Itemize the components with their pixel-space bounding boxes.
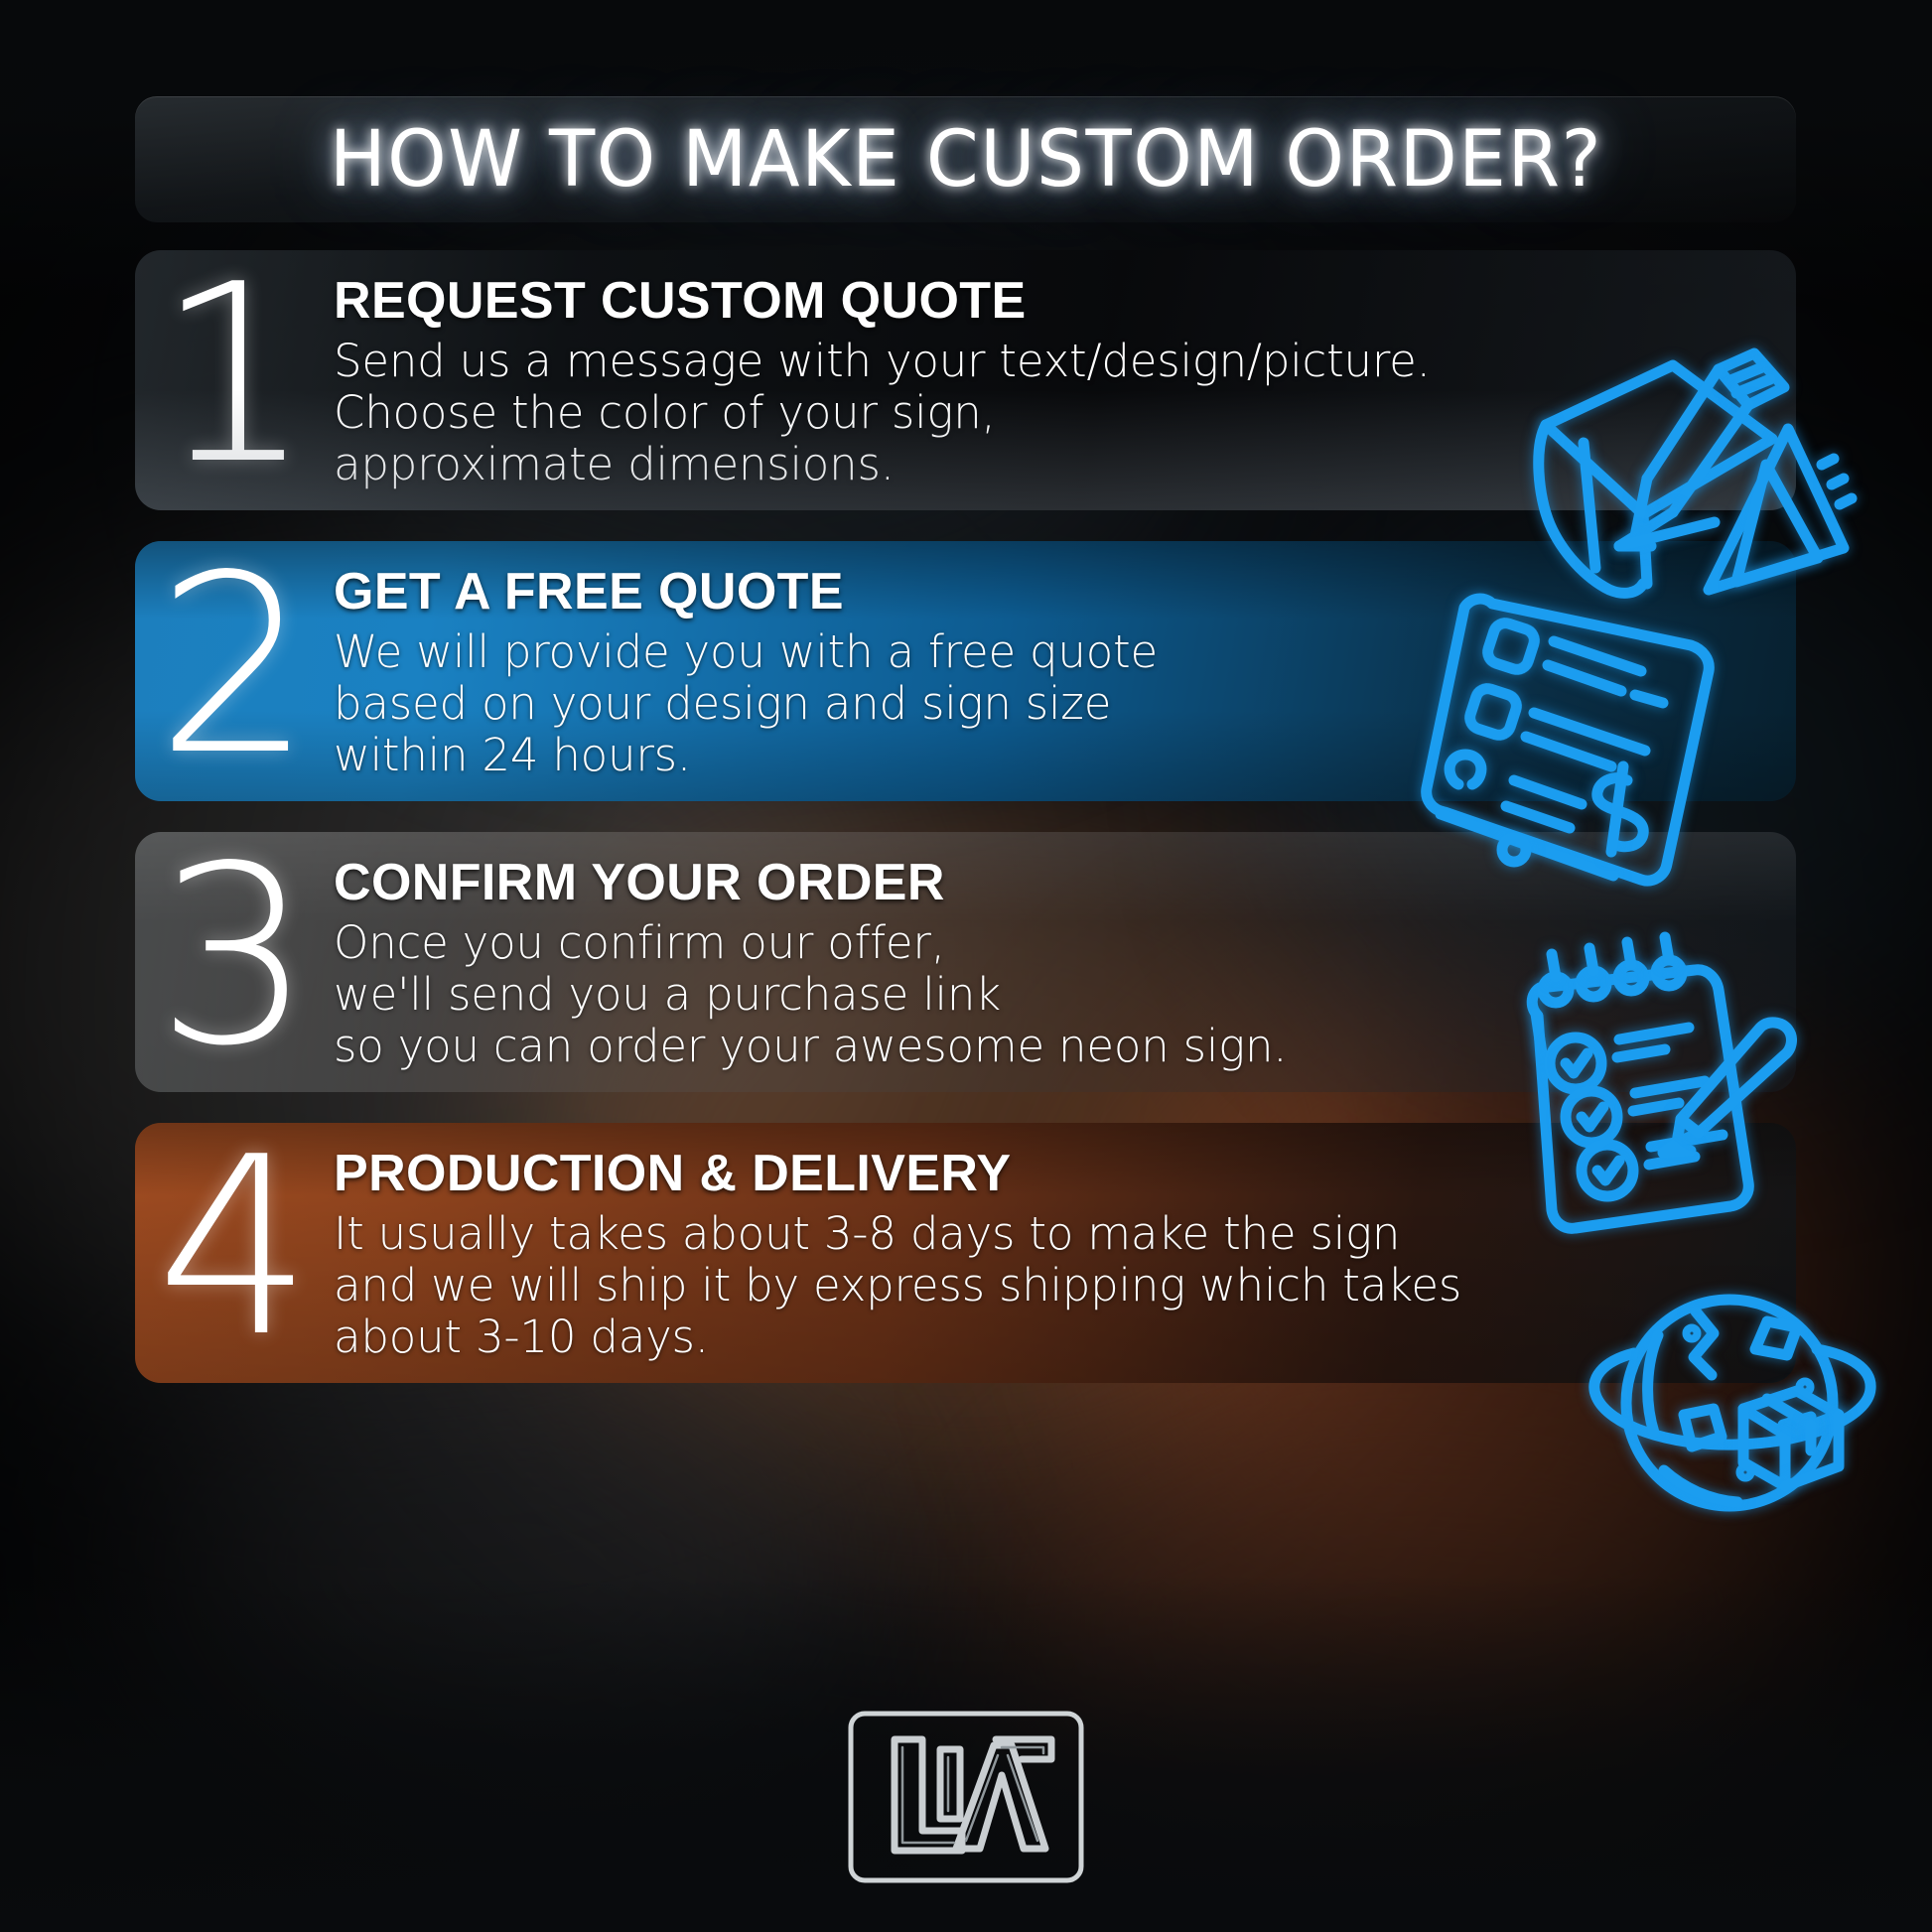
step-line: It usually takes about 3-8 days to make … [334, 1208, 1766, 1260]
step-description-3: Once you confirm our offer, we'll send y… [334, 917, 1766, 1071]
step-line: based on your design and sign size [334, 678, 1766, 730]
step-number-2: 2 [135, 541, 334, 801]
step-line: approximate dimensions. [334, 439, 1766, 490]
step-line: within 24 hours. [334, 730, 1766, 781]
step-line: Choose the color of your sign, [334, 387, 1766, 439]
step-heading-3: CONFIRM YOUR ORDER [334, 854, 1766, 911]
step-line: We will provide you with a free quote [334, 626, 1766, 678]
step-description-4: It usually takes about 3-8 days to make … [334, 1208, 1766, 1362]
step-card-2: 2 GET A FREE QUOTE We will provide you w… [135, 541, 1796, 801]
step-number-4: 4 [135, 1123, 334, 1383]
neon-monogram-logo [847, 1710, 1085, 1884]
step-line: Once you confirm our offer, [334, 917, 1766, 969]
step-line: and we will ship it by express shipping … [334, 1260, 1766, 1311]
page-title: HOW TO MAKE CUSTOM ORDER? [329, 115, 1601, 205]
step-description-2: We will provide you with a free quote ba… [334, 626, 1766, 780]
infographic-root: HOW TO MAKE CUSTOM ORDER? 1 REQUEST CUST… [0, 0, 1932, 1932]
step-heading-1: REQUEST CUSTOM QUOTE [334, 272, 1766, 330]
step-card-3: 3 CONFIRM YOUR ORDER Once you confirm ou… [135, 832, 1796, 1092]
step-card-4: 4 PRODUCTION & DELIVERY It usually takes… [135, 1123, 1796, 1383]
title-bar: HOW TO MAKE CUSTOM ORDER? [135, 96, 1796, 222]
step-line: we'll send you a purchase link [334, 969, 1766, 1021]
step-description-1: Send us a message with your text/design/… [334, 336, 1766, 489]
step-line: Send us a message with your text/design/… [334, 336, 1766, 387]
step-line: about 3-10 days. [334, 1311, 1766, 1363]
step-heading-2: GET A FREE QUOTE [334, 563, 1766, 621]
step-card-1: 1 REQUEST CUSTOM QUOTE Send us a message… [135, 250, 1796, 510]
step-line: so you can order your awesome neon sign. [334, 1021, 1766, 1072]
step-number-1: 1 [135, 250, 334, 510]
step-number-3: 3 [135, 832, 334, 1092]
step-heading-4: PRODUCTION & DELIVERY [334, 1145, 1766, 1202]
